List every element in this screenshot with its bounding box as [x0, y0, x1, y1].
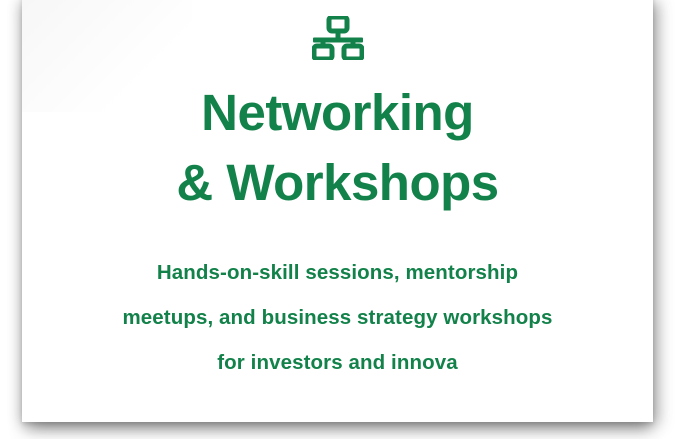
network-sitemap-icon [312, 16, 364, 60]
card-heading: Networking & Workshops [176, 78, 498, 218]
feature-card: Networking & Workshops Hands-on-skill se… [22, 0, 653, 422]
card-body-line-2: meetups, and business strategy workshops [38, 295, 638, 340]
network-sitemap-icon-svg [312, 16, 364, 60]
card-body-line-3: for investors and innova [38, 340, 638, 385]
card-heading-line-2: & Workshops [176, 148, 498, 218]
card-body-text: Hands-on-skill sessions, mentorship meet… [38, 250, 638, 385]
card-body-line-1: Hands-on-skill sessions, mentorship [38, 250, 638, 295]
page-background: Networking & Workshops Hands-on-skill se… [0, 0, 675, 439]
card-heading-line-1: Networking [176, 78, 498, 148]
